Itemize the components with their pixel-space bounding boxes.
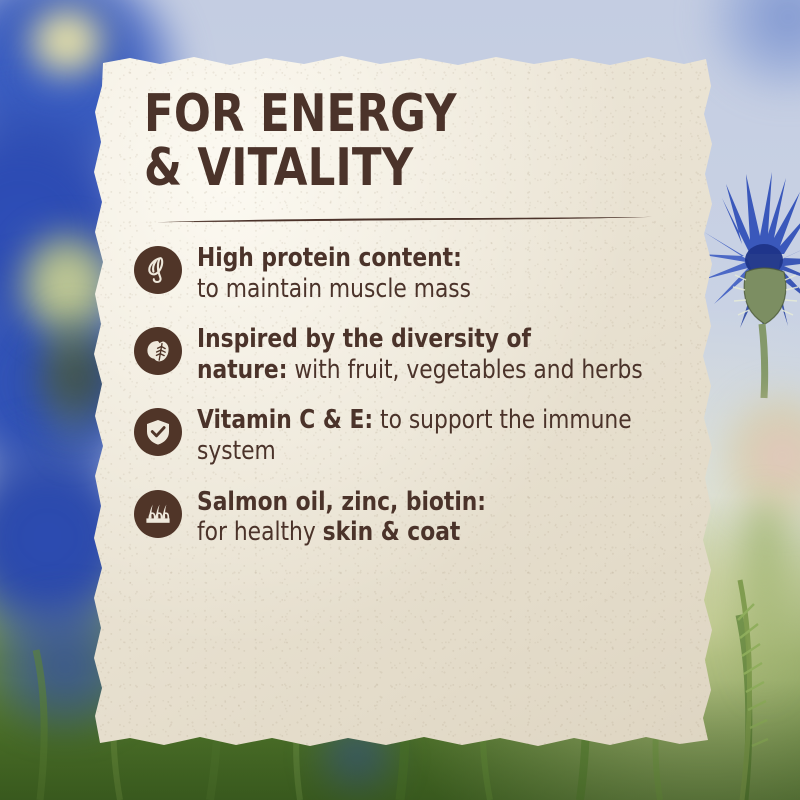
- benefit-text-nature: Inspired by the diversity of nature: wit…: [197, 324, 671, 385]
- benefit-item-vitamins: Vitamin C & E: to support the immune sys…: [134, 405, 696, 466]
- headline-divider: [154, 214, 654, 226]
- hair-follicle-icon: [134, 490, 182, 538]
- benefit-list: High protein content: to maintain muscle…: [90, 243, 718, 548]
- benefit-lead-prefix-nature: Inspired by the diversity of: [197, 324, 531, 354]
- page-title: FOR ENERGY & VITALITY: [90, 88, 674, 195]
- benefit-item-skin-coat: Salmon oil, zinc, biotin: for healthy sk…: [134, 487, 696, 548]
- benefit-emph-skin-coat: skin & coat: [323, 517, 461, 547]
- benefit-item-protein: High protein content: to maintain muscle…: [134, 243, 696, 304]
- leaf-icon: [134, 327, 182, 375]
- benefit-item-nature: Inspired by the diversity of nature: wit…: [134, 324, 696, 385]
- benefit-lead-protein: High protein content:: [197, 243, 462, 273]
- benefit-text-vitamins: Vitamin C & E: to support the immune sys…: [197, 405, 671, 466]
- benefit-lead-skin-coat: Salmon oil, zinc, biotin:: [197, 487, 486, 517]
- blurred-cornflower-top-right: [708, 0, 800, 92]
- shield-check-icon: [134, 408, 182, 456]
- benefit-rest-protein: to maintain muscle mass: [197, 274, 471, 304]
- meat-drumstick-icon: [134, 246, 182, 294]
- benefit-lead-vitamins: Vitamin C & E:: [197, 405, 373, 435]
- benefit-text-skin-coat: Salmon oil, zinc, biotin: for healthy sk…: [197, 487, 671, 548]
- benefit-text-protein: High protein content: to maintain muscle…: [197, 243, 671, 304]
- benefit-rest-nature: with fruit, vegetables and herbs: [294, 355, 642, 385]
- headline-line-1: FOR ENERGY: [144, 88, 642, 142]
- benefit-lead-nature: nature:: [197, 355, 287, 385]
- benefit-rest-skin-coat: for healthy: [197, 517, 323, 547]
- card-content: FOR ENERGY & VITALITY High protein conte: [90, 52, 718, 750]
- headline-line-2: & VITALITY: [144, 142, 642, 196]
